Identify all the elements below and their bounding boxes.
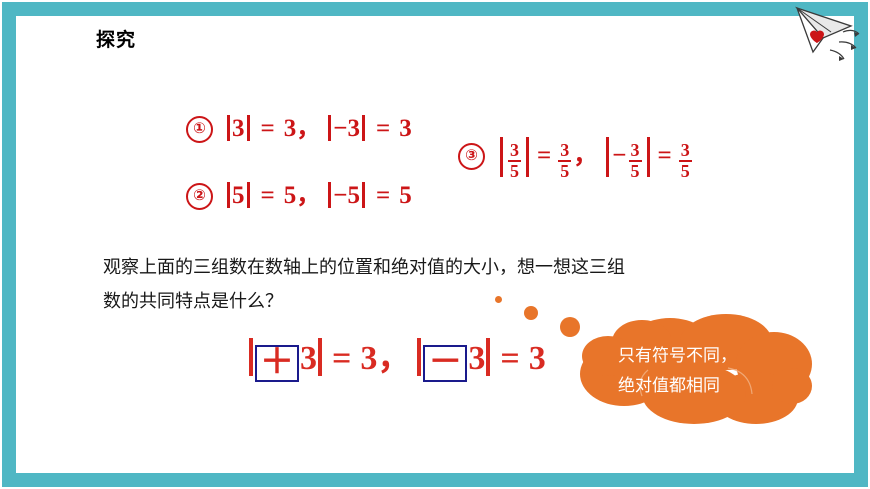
frame-border-right bbox=[854, 2, 868, 487]
equation-1-result-a: 3 bbox=[284, 115, 297, 142]
highlight-comma: ， bbox=[377, 340, 411, 377]
abs-bar-close bbox=[318, 338, 322, 376]
abs-bar-close bbox=[247, 182, 250, 208]
equation-2-minus: − bbox=[333, 182, 347, 209]
plus-sign-box: ＋ bbox=[255, 345, 299, 382]
equation-2-comma: ， bbox=[296, 182, 321, 209]
highlight-operand-b: 3 bbox=[468, 340, 485, 377]
highlight-result-b: 3 bbox=[529, 340, 546, 377]
equation-1-operand-b: 3 bbox=[348, 115, 361, 142]
equation-row-1: ①3=3，−3=3 bbox=[186, 108, 412, 144]
question-paragraph: 观察上面的三组数在数轴上的位置和绝对值的大小，想一想这三组数的共同特点是什么？ bbox=[103, 250, 633, 318]
equation-2-equals-b: = bbox=[376, 182, 390, 209]
frame-border-bottom bbox=[2, 473, 868, 487]
equation-2-operand-a: 5 bbox=[232, 182, 245, 209]
callout-trail-dot-medium bbox=[524, 306, 538, 320]
cloud-callout-line-2: 绝对值都相同 bbox=[618, 371, 793, 401]
abs-bar-close-2 bbox=[362, 115, 365, 141]
fraction-c-denominator: 5 bbox=[629, 160, 642, 181]
equation-1-result-b: 3 bbox=[399, 115, 412, 142]
equation-1-minus: − bbox=[333, 115, 347, 142]
highlight-result-a: 3 bbox=[360, 340, 377, 377]
frame-border-top bbox=[2, 2, 868, 16]
equation-marker-3: ③ bbox=[458, 143, 485, 170]
equation-1-operand-a: 3 bbox=[232, 115, 245, 142]
fraction-d-numerator: 3 bbox=[679, 141, 692, 160]
abs-bar-open bbox=[227, 115, 230, 141]
highlight-operand-a: 3 bbox=[300, 340, 317, 377]
highlight-equation: ＋3=3，－3=3 bbox=[248, 330, 546, 382]
abs-bar-close-2 bbox=[486, 338, 490, 376]
equation-2-result-b: 5 bbox=[399, 182, 412, 209]
plus-sign: ＋ bbox=[260, 344, 294, 381]
abs-bar-open-2 bbox=[328, 115, 331, 141]
paper-airplane-icon bbox=[793, 4, 865, 66]
fraction-c: 35 bbox=[629, 141, 642, 181]
abs-bar-close bbox=[526, 137, 529, 177]
slide-root: 探究 ①3=3，−3=3 ②5=5，−5=5 ③35=35，−35=35 bbox=[0, 0, 870, 489]
equation-2-equals-a: = bbox=[261, 182, 275, 209]
equation-row-2: ②5=5，−5=5 bbox=[186, 175, 412, 211]
abs-bar-open bbox=[249, 338, 253, 376]
abs-bar-open bbox=[500, 137, 503, 177]
equation-row-3: ③35=35，−35=35 bbox=[458, 135, 694, 181]
fraction-a-denominator: 5 bbox=[508, 160, 521, 181]
equation-2-operand-b: 5 bbox=[348, 182, 361, 209]
abs-bar-open bbox=[227, 182, 230, 208]
abs-bar-close bbox=[247, 115, 250, 141]
equation-1-equals-a: = bbox=[261, 115, 275, 142]
callout-trail-dot-small bbox=[495, 296, 502, 303]
cloud-callout-line-1: 只有符号不同， bbox=[618, 341, 793, 371]
equation-1-comma: ， bbox=[296, 115, 321, 142]
page-title: 探究 bbox=[96, 25, 136, 52]
equation-marker-1: ① bbox=[186, 116, 213, 143]
equation-3-equals-a: = bbox=[537, 142, 551, 169]
abs-bar-open-2 bbox=[417, 338, 421, 376]
fraction-d-denominator: 5 bbox=[679, 160, 692, 181]
equation-3-equals-b: = bbox=[658, 142, 672, 169]
fraction-a-numerator: 3 bbox=[508, 141, 521, 160]
abs-bar-close-2 bbox=[647, 137, 650, 177]
fraction-a: 35 bbox=[508, 141, 521, 181]
equation-2-result-a: 5 bbox=[284, 182, 297, 209]
equation-1-equals-b: = bbox=[376, 115, 390, 142]
equation-3-minus: − bbox=[612, 142, 626, 169]
fraction-b-numerator: 3 bbox=[558, 141, 571, 160]
abs-bar-open-2 bbox=[606, 137, 609, 177]
fraction-d: 35 bbox=[679, 141, 692, 181]
fraction-b: 35 bbox=[558, 141, 571, 181]
cloud-callout-text: 只有符号不同， 绝对值都相同 bbox=[618, 341, 793, 401]
abs-bar-open-2 bbox=[328, 182, 331, 208]
minus-sign-box: － bbox=[423, 345, 467, 382]
fraction-c-numerator: 3 bbox=[629, 141, 642, 160]
minus-sign: － bbox=[428, 344, 462, 381]
equation-marker-2: ② bbox=[186, 183, 213, 210]
fraction-b-denominator: 5 bbox=[558, 160, 571, 181]
frame-border-left bbox=[2, 2, 16, 487]
abs-bar-close-2 bbox=[362, 182, 365, 208]
callout-trail-dot-large bbox=[560, 317, 580, 337]
highlight-equals-b: = bbox=[500, 340, 519, 377]
equation-3-comma: ， bbox=[573, 142, 598, 169]
highlight-equals-a: = bbox=[332, 340, 351, 377]
